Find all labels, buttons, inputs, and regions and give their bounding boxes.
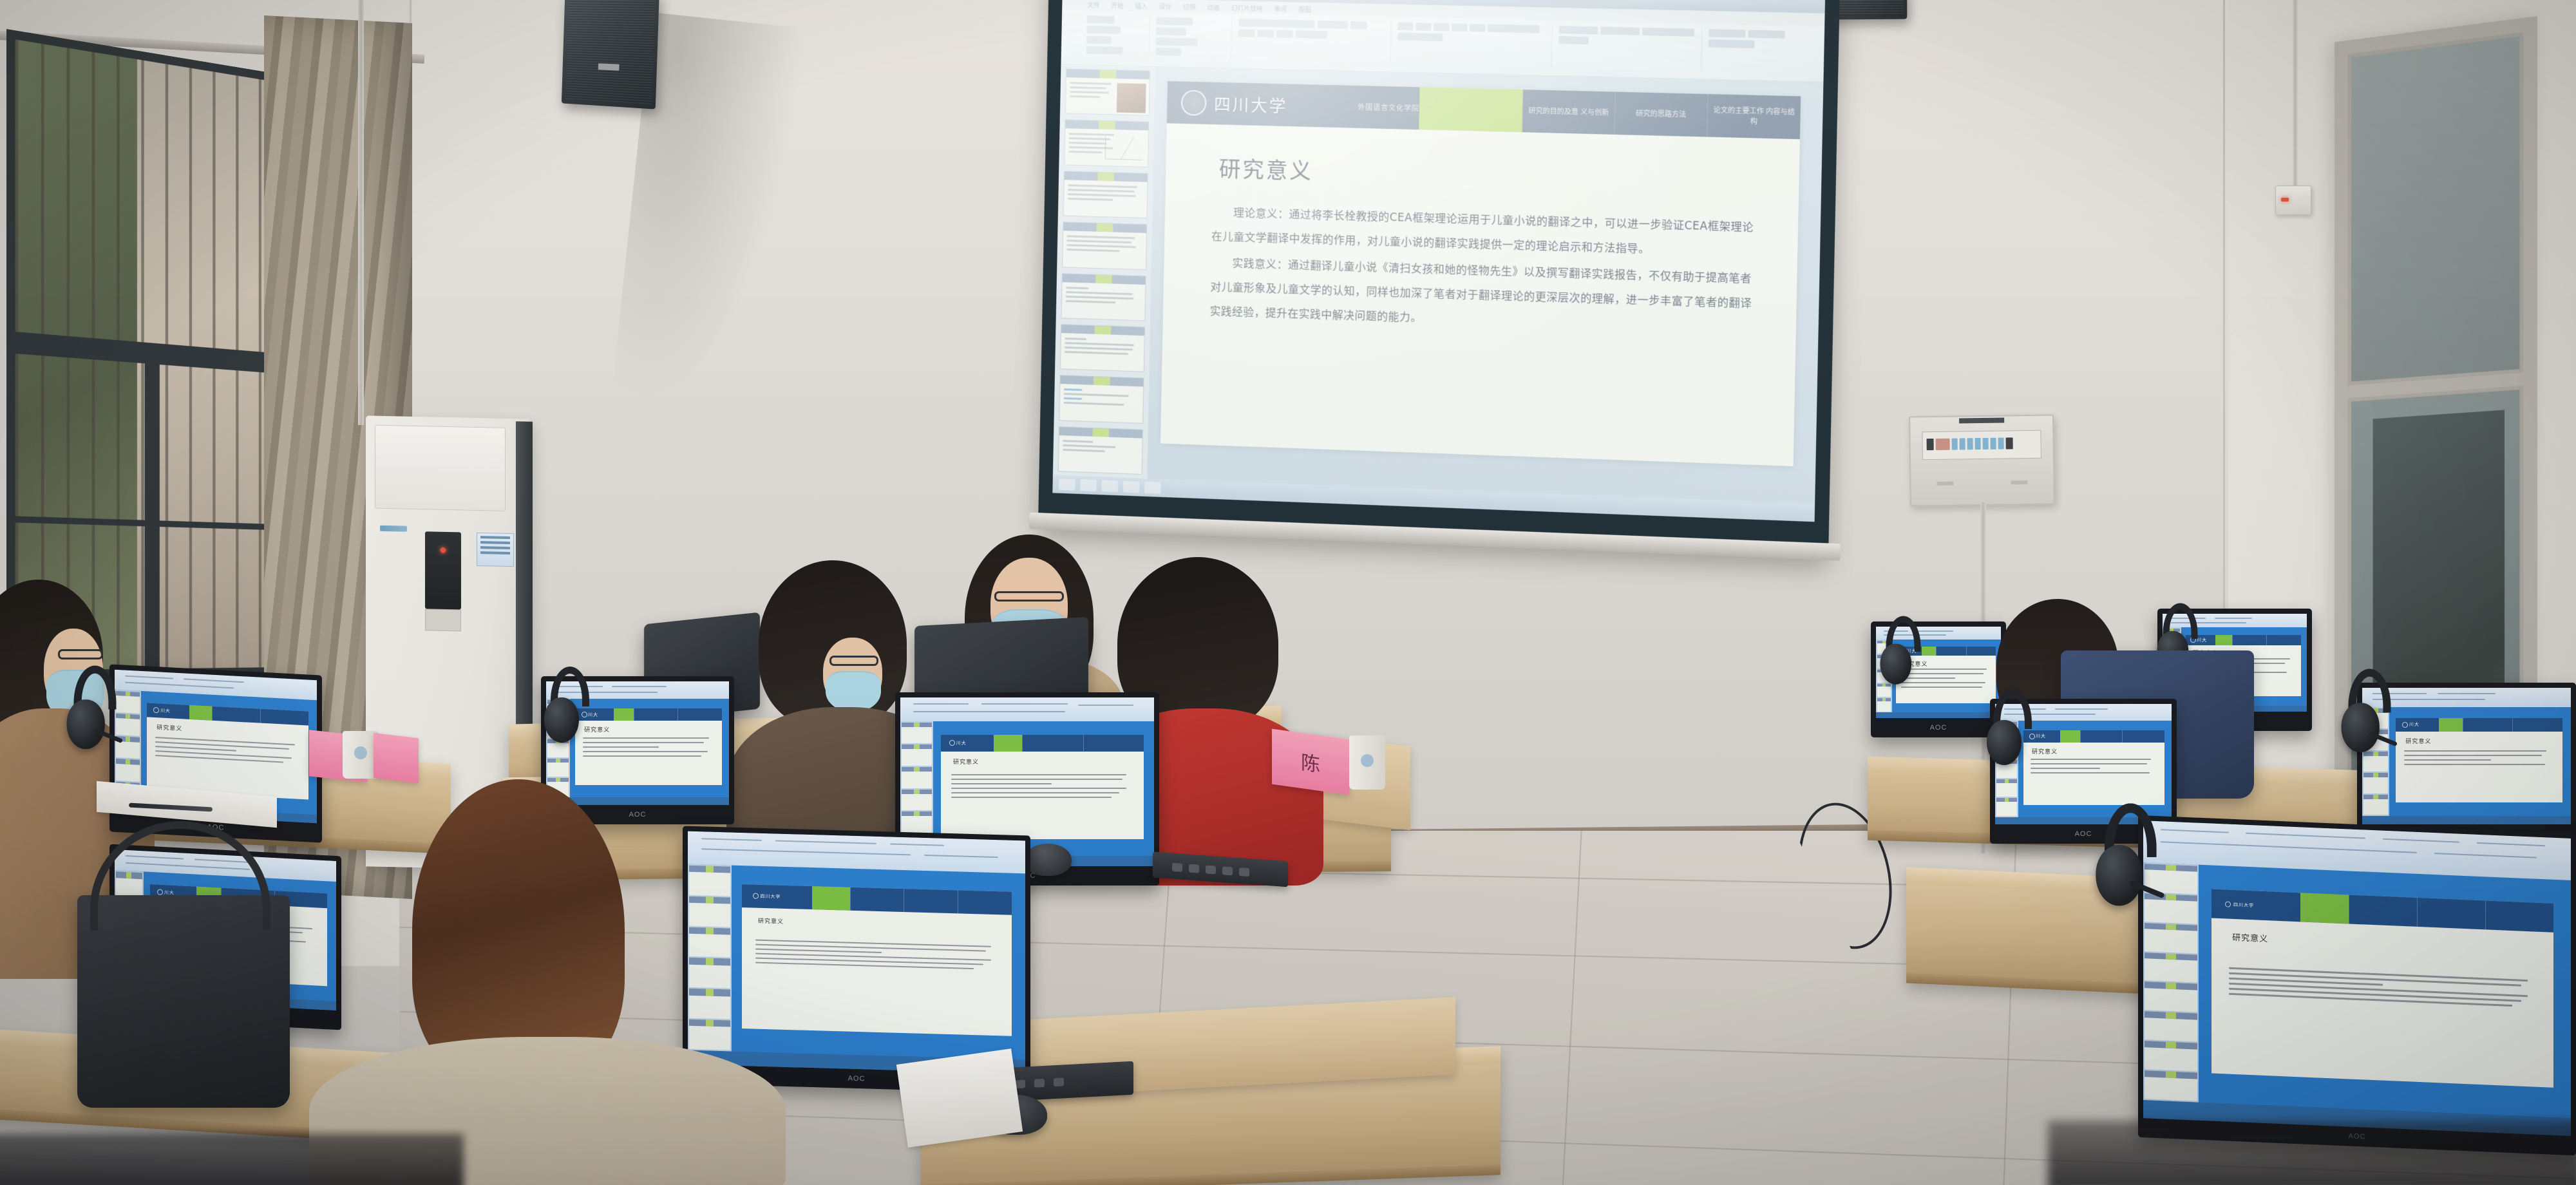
ceiling-speaker-left bbox=[562, 0, 659, 109]
slide-editing-stage: 四川大学 外国语言文化学院 研究的目的及意 义与创新 研究的思路方法 论文的主要… bbox=[1147, 67, 1823, 504]
taskbar-item[interactable] bbox=[1123, 481, 1140, 493]
header-tab-structure: 论文的主要工作 内容与结构 bbox=[1707, 94, 1801, 139]
slide-paragraph-practical: 实践意义：通过翻译儿童小说《清扫女孩和她的怪物先生》以及撰写翻译实践报告，不仅有… bbox=[1209, 251, 1760, 341]
ribbon-group-editing[interactable] bbox=[1701, 29, 1801, 73]
papers-foreground[interactable] bbox=[896, 1048, 1023, 1148]
slide-body-text: 理论意义：通过将李长栓教授的CEA框架理论运用于儿童小说的翻译之中，可以进一步验… bbox=[1209, 200, 1761, 343]
menu-item-design[interactable]: 设计 bbox=[1159, 1, 1172, 10]
monitor-university-name-2: 四川大学 bbox=[2233, 901, 2254, 908]
name-card-front-left-2 bbox=[374, 733, 419, 784]
foreground-blur-left bbox=[0, 1133, 464, 1185]
name-card-text: 陈 bbox=[1301, 746, 1320, 777]
menu-item-review[interactable]: 审阅 bbox=[1274, 3, 1287, 13]
paper-cup-middle[interactable] bbox=[1349, 735, 1385, 790]
monitor-brand: AOC bbox=[1930, 724, 1947, 732]
electrical-distribution-panel[interactable] bbox=[1909, 414, 2055, 506]
menu-item-insert[interactable]: 插入 bbox=[1135, 1, 1148, 10]
breaker[interactable] bbox=[1991, 438, 1996, 450]
header-accent-block bbox=[1419, 87, 1522, 132]
slide-header-banner: 四川大学 外国语言文化学院 研究的目的及意 义与创新 研究的思路方法 论文的主要… bbox=[1167, 81, 1801, 139]
ppt-body: 四川大学 外国语言文化学院 研究的目的及意 义与创新 研究的思路方法 论文的主要… bbox=[1053, 64, 1824, 504]
projected-image: 文件 开始 插入 设计 切换 动画 幻灯片放映 审阅 视图 bbox=[1052, 0, 1825, 522]
taskbar-item[interactable] bbox=[1101, 480, 1118, 493]
university-name: 四川大学 bbox=[1214, 91, 1288, 117]
breaker[interactable] bbox=[1998, 438, 2004, 450]
person-student-foreground bbox=[309, 779, 799, 1185]
ribbon-group-drawing[interactable] bbox=[1552, 26, 1703, 71]
menu-item-home[interactable]: 开始 bbox=[1111, 0, 1124, 10]
headset-foreground-right-b[interactable] bbox=[2349, 669, 2398, 761]
monitor-front-right-large: 四川大学 研究意义 AOC bbox=[2138, 815, 2576, 1156]
headset-mid-left[interactable] bbox=[551, 667, 596, 750]
ac-display bbox=[425, 531, 461, 609]
headset-foreground-right-a[interactable] bbox=[1993, 689, 2038, 773]
ribbon-group-clipboard[interactable] bbox=[1080, 15, 1150, 58]
taskbar-item[interactable] bbox=[1144, 482, 1161, 494]
taskbar-item[interactable] bbox=[1059, 479, 1075, 491]
header-tab-purpose: 研究的目的及意 义与创新 bbox=[1522, 90, 1615, 135]
breaker[interactable] bbox=[1967, 438, 1973, 450]
powerpoint-window: 文件 开始 插入 设计 切换 动画 幻灯片放映 审阅 视图 bbox=[1052, 0, 1825, 522]
ac-control-buttons[interactable] bbox=[425, 609, 461, 631]
student-brown-face-mask bbox=[826, 671, 881, 712]
menu-item-file[interactable]: 文件 bbox=[1087, 0, 1100, 9]
ac-air-vent bbox=[375, 425, 506, 511]
slide-thumbnail[interactable] bbox=[1063, 171, 1148, 218]
foreground-blur-right bbox=[2048, 1121, 2576, 1185]
slide-thumbnail-panel[interactable] bbox=[1053, 64, 1155, 479]
menu-item-view[interactable]: 视图 bbox=[1298, 4, 1311, 14]
university-logo-block: 四川大学 bbox=[1167, 81, 1358, 128]
ac-energy-label bbox=[477, 533, 514, 567]
breaker-main[interactable] bbox=[1927, 439, 1934, 450]
student-brown-glasses-icon bbox=[829, 656, 878, 666]
menu-item-slideshow[interactable]: 幻灯片放映 bbox=[1231, 3, 1264, 13]
circuit-breakers[interactable] bbox=[1926, 436, 2036, 451]
sensor-conduit bbox=[2293, 0, 2298, 188]
breaker-label bbox=[1936, 439, 1950, 450]
sensor-led-indicator bbox=[2281, 198, 2289, 202]
slide-thumbnail[interactable] bbox=[1059, 375, 1144, 423]
current-slide: 四川大学 外国语言文化学院 研究的目的及意 义与创新 研究的思路方法 论文的主要… bbox=[1160, 81, 1801, 466]
monitor-slide-title-large: 研究意义 bbox=[2232, 931, 2268, 944]
slide-thumbnail[interactable] bbox=[1058, 426, 1143, 475]
door-transom-window bbox=[2347, 32, 2523, 386]
wall-sensor bbox=[2275, 185, 2311, 215]
ribbon-group-font[interactable] bbox=[1231, 19, 1392, 63]
wall-conduit-left bbox=[358, 0, 364, 425]
university-seal-icon bbox=[1181, 90, 1207, 116]
menu-item-animation[interactable]: 动画 bbox=[1207, 2, 1220, 12]
headset-right-rear-1[interactable] bbox=[1886, 616, 1927, 692]
student-left-glasses-icon bbox=[58, 649, 103, 659]
slide-thumbnail[interactable] bbox=[1062, 222, 1147, 269]
slide-thumbnail[interactable] bbox=[1065, 68, 1150, 116]
menu-item-transition[interactable]: 切换 bbox=[1183, 1, 1196, 11]
slide-thumbnail[interactable] bbox=[1060, 324, 1145, 372]
breaker[interactable] bbox=[1960, 438, 1965, 450]
name-card-chen: 陈 bbox=[1272, 729, 1349, 795]
header-tab-method: 研究的思路方法 bbox=[1614, 92, 1707, 137]
ac-power-led-icon bbox=[440, 547, 446, 553]
panel-breaker-window bbox=[1922, 430, 2041, 460]
ribbon-group-paragraph[interactable] bbox=[1390, 22, 1552, 67]
university-subtitle: 外国语言文化学院 bbox=[1358, 102, 1419, 113]
breaker[interactable] bbox=[2006, 437, 2013, 449]
headset-front-right-large[interactable] bbox=[2105, 803, 2166, 916]
presenter-glasses-icon bbox=[994, 591, 1064, 602]
classroom-photo-scene: 文件 开始 插入 设计 切换 动画 幻灯片放映 审阅 视图 bbox=[0, 0, 2576, 1185]
projection-screen: 文件 开始 插入 设计 切换 动画 幻灯片放映 审阅 视图 bbox=[1038, 0, 1840, 556]
slide-title: 研究意义 bbox=[1218, 151, 1313, 185]
breaker[interactable] bbox=[1983, 438, 1989, 450]
breaker[interactable] bbox=[1952, 439, 1958, 450]
monitor-screen: 四川大学 研究意义 bbox=[2143, 820, 2571, 1136]
ac-brand-logo bbox=[380, 526, 407, 532]
monitor-brand: AOC bbox=[848, 1075, 866, 1083]
slide-thumbnail[interactable] bbox=[1064, 120, 1149, 167]
mouse-middle[interactable] bbox=[1024, 844, 1072, 876]
taskbar-item[interactable] bbox=[1080, 479, 1097, 491]
slide-thumbnail[interactable] bbox=[1061, 273, 1146, 321]
breaker[interactable] bbox=[1975, 438, 1981, 450]
headset-front-left[interactable] bbox=[74, 666, 124, 758]
monitor-slide-title: 研究意义 bbox=[953, 757, 979, 766]
ribbon-group-slides[interactable] bbox=[1149, 17, 1232, 59]
monitor-brand: AOC bbox=[2075, 830, 2092, 838]
panel-label bbox=[1959, 418, 2004, 424]
